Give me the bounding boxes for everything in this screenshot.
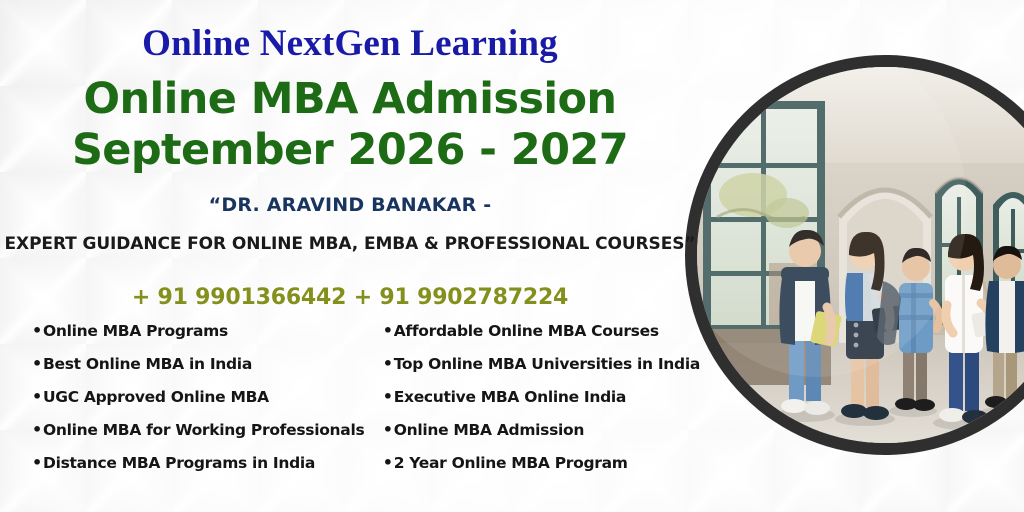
headline-line-2: September 2026 - 2027 bbox=[0, 125, 700, 175]
list-item-label: Online MBA Admission bbox=[394, 421, 584, 439]
bullet-dot-icon: • bbox=[32, 455, 43, 471]
list-item-label: Executive MBA Online India bbox=[394, 388, 626, 406]
list-item: • Online MBA Admission bbox=[383, 421, 700, 454]
bullet-dot-icon: • bbox=[32, 323, 43, 339]
list-item-label: Best Online MBA in India bbox=[43, 355, 252, 373]
campus-corridor-illustration bbox=[697, 67, 1024, 443]
keyword-bullet-lists: • Online MBA Programs • Best Online MBA … bbox=[0, 322, 700, 487]
expert-quote-line-1: “DR. ARAVIND BANAKAR - bbox=[0, 194, 700, 216]
promo-banner: Online NextGen Learning Online MBA Admis… bbox=[0, 0, 1024, 512]
bullet-dot-icon: • bbox=[32, 356, 43, 372]
list-item-label: UGC Approved Online MBA bbox=[43, 388, 269, 406]
bullet-dot-icon: • bbox=[32, 422, 43, 438]
list-item: • Best Online MBA in India bbox=[32, 355, 371, 388]
bullet-dot-icon: • bbox=[383, 356, 394, 372]
list-item-label: 2 Year Online MBA Program bbox=[394, 454, 628, 472]
bullet-dot-icon: • bbox=[383, 389, 394, 405]
list-item: • Online MBA Programs bbox=[32, 322, 371, 355]
student-photo bbox=[697, 67, 1024, 443]
bullet-dot-icon: • bbox=[383, 455, 394, 471]
list-item-label: Online MBA Programs bbox=[43, 322, 228, 340]
list-item: • Online MBA for Working Professionals bbox=[32, 421, 371, 454]
list-item: • UGC Approved Online MBA bbox=[32, 388, 371, 421]
bullet-list-left: • Online MBA Programs • Best Online MBA … bbox=[0, 322, 371, 487]
bullet-list-right: • Affordable Online MBA Courses • Top On… bbox=[371, 322, 700, 487]
list-item-label: Affordable Online MBA Courses bbox=[394, 322, 659, 340]
list-item: • Affordable Online MBA Courses bbox=[383, 322, 700, 355]
list-item-label: Distance MBA Programs in India bbox=[43, 454, 315, 472]
list-item: • 2 Year Online MBA Program bbox=[383, 454, 700, 487]
list-item-label: Online MBA for Working Professionals bbox=[43, 421, 364, 439]
list-item: • Distance MBA Programs in India bbox=[32, 454, 371, 487]
list-item-label: Top Online MBA Universities in India bbox=[394, 355, 700, 373]
headline-line-1: Online MBA Admission bbox=[0, 74, 700, 124]
bullet-dot-icon: • bbox=[32, 389, 43, 405]
brand-title: Online NextGen Learning bbox=[0, 22, 700, 65]
text-content: Online NextGen Learning Online MBA Admis… bbox=[0, 0, 700, 512]
expert-quote-line-2: EXPERT GUIDANCE FOR ONLINE MBA, EMBA & P… bbox=[0, 234, 700, 254]
list-item: • Top Online MBA Universities in India bbox=[383, 355, 700, 388]
list-item: • Executive MBA Online India bbox=[383, 388, 700, 421]
contact-phone-numbers[interactable]: + 91 9901366442 + 91 9902787224 bbox=[0, 285, 700, 310]
bullet-dot-icon: • bbox=[383, 422, 394, 438]
bullet-dot-icon: • bbox=[383, 323, 394, 339]
